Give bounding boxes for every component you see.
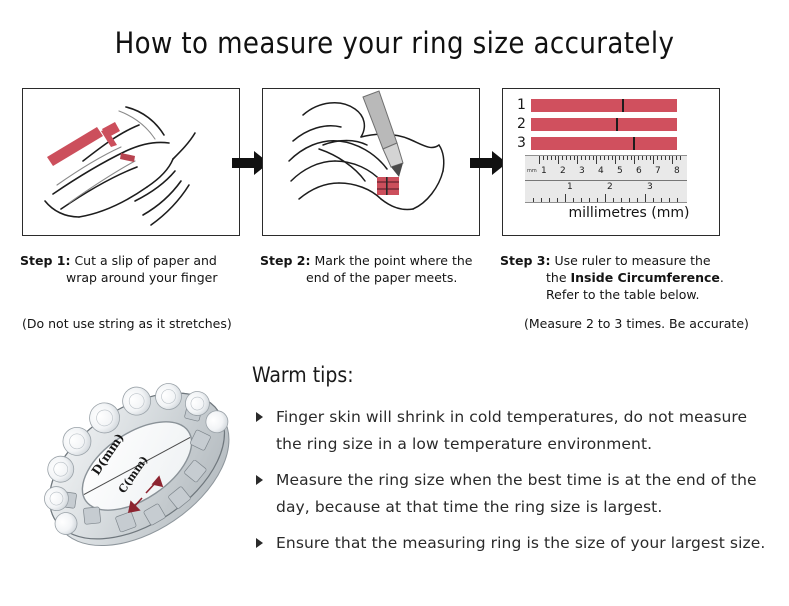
warm-tip-text: Finger skin will shrink in cold temperat… xyxy=(276,408,747,453)
ruler-unit-tag: mm xyxy=(527,168,537,174)
ruler-inch-label: 2 xyxy=(607,183,613,192)
ruler-cm-label: 8 xyxy=(674,167,680,176)
triangle-bullet-icon xyxy=(256,412,263,422)
step-1-illustration-panel xyxy=(22,88,240,236)
step-2-label: Step 2: xyxy=(260,253,310,268)
warm-tips-title: Warm tips: xyxy=(252,362,772,388)
ruler-cm-label: 5 xyxy=(617,167,623,176)
step-1-note: (Do not use string as it stretches) xyxy=(22,316,232,331)
step-3-ruler-panel: 1 2 3 mm xyxy=(502,88,720,236)
step-3-line3: Refer to the table below. xyxy=(500,286,765,303)
ring-diagram: D(mm) C(mm) xyxy=(28,352,246,580)
step-1-line1: Cut a slip of paper and xyxy=(74,253,216,268)
triangle-bullet-icon xyxy=(256,538,263,548)
strip-mark xyxy=(616,118,618,131)
ruler-cm-label: 2 xyxy=(560,167,566,176)
strip-bar xyxy=(531,99,677,112)
ruler-unit-caption: millimetres (mm) xyxy=(503,205,720,221)
strip-mark xyxy=(633,137,635,150)
measured-strip-row: 3 xyxy=(517,137,677,150)
ruler-graphic: mm 1 2 3 4 5 6 7 8 xyxy=(525,155,687,203)
step-2-line1: Mark the point where the xyxy=(314,253,472,268)
paper-slip-red xyxy=(377,177,399,195)
warm-tip-item: Finger skin will shrink in cold temperat… xyxy=(252,404,772,458)
step-3-inside-circumference-emphasis: Inside Circumference xyxy=(571,270,720,285)
ruler-cm-label: 1 xyxy=(541,167,547,176)
ruler-cm-label: 3 xyxy=(579,167,585,176)
step-1-label: Step 1: xyxy=(20,253,70,268)
step-3-line2: the Inside Circumference. xyxy=(500,269,765,286)
ruler-inch-label: 1 xyxy=(567,183,573,192)
step-1-line2: wrap around your finger xyxy=(20,269,255,286)
triangle-bullet-icon xyxy=(256,475,263,485)
step-3-line2-pre: the xyxy=(546,270,571,285)
ruler-cm-scale: mm 1 2 3 4 5 6 7 8 xyxy=(525,156,687,181)
strip-bar xyxy=(531,118,677,131)
step-3-line1: Use ruler to measure the xyxy=(554,253,710,268)
warm-tips-section: Warm tips: Finger skin will shrink in co… xyxy=(252,362,772,566)
ruler-inch-scale: 1 2 3 xyxy=(525,181,687,202)
step-3-caption: Step 3: Use ruler to measure the the Ins… xyxy=(500,252,765,303)
warm-tip-item: Measure the ring size when the best time… xyxy=(252,467,772,521)
step-3-note: (Measure 2 to 3 times. Be accurate) xyxy=(524,316,749,331)
strip-number: 3 xyxy=(517,137,531,150)
step-2-illustration-panel xyxy=(262,88,480,236)
paper-slip-red xyxy=(47,122,135,166)
hand-with-paper-slip-drawing xyxy=(23,89,239,235)
ruler-inch-label: 3 xyxy=(647,183,653,192)
strip-number: 1 xyxy=(517,99,531,112)
warm-tip-text: Measure the ring size when the best time… xyxy=(276,471,757,516)
ruler-cm-label: 7 xyxy=(655,167,661,176)
step-3-line2-post: . xyxy=(720,270,724,285)
eternity-ring-illustration: D(mm) C(mm) xyxy=(28,352,246,580)
step-2-caption: Step 2: Mark the point where the end of … xyxy=(260,252,495,286)
measured-strip-row: 2 xyxy=(517,118,677,131)
measured-strip-row: 1 xyxy=(517,99,677,112)
page-title: How to measure your ring size accurately xyxy=(0,26,789,60)
steps-row: 1 2 3 mm xyxy=(0,88,789,248)
step-1-caption: Step 1: Cut a slip of paper and wrap aro… xyxy=(20,252,255,286)
ruler-cm-label: 4 xyxy=(598,167,604,176)
ruler-cm-label: 6 xyxy=(636,167,642,176)
step-2-line2: end of the paper meets. xyxy=(260,269,495,286)
strip-bar xyxy=(531,137,677,150)
strip-number: 2 xyxy=(517,118,531,131)
step-3-label: Step 3: xyxy=(500,253,550,268)
hand-marking-paper-drawing xyxy=(263,89,479,235)
warm-tip-text: Ensure that the measuring ring is the si… xyxy=(276,534,765,552)
warm-tip-item: Ensure that the measuring ring is the si… xyxy=(252,530,772,557)
strip-mark xyxy=(622,99,624,112)
